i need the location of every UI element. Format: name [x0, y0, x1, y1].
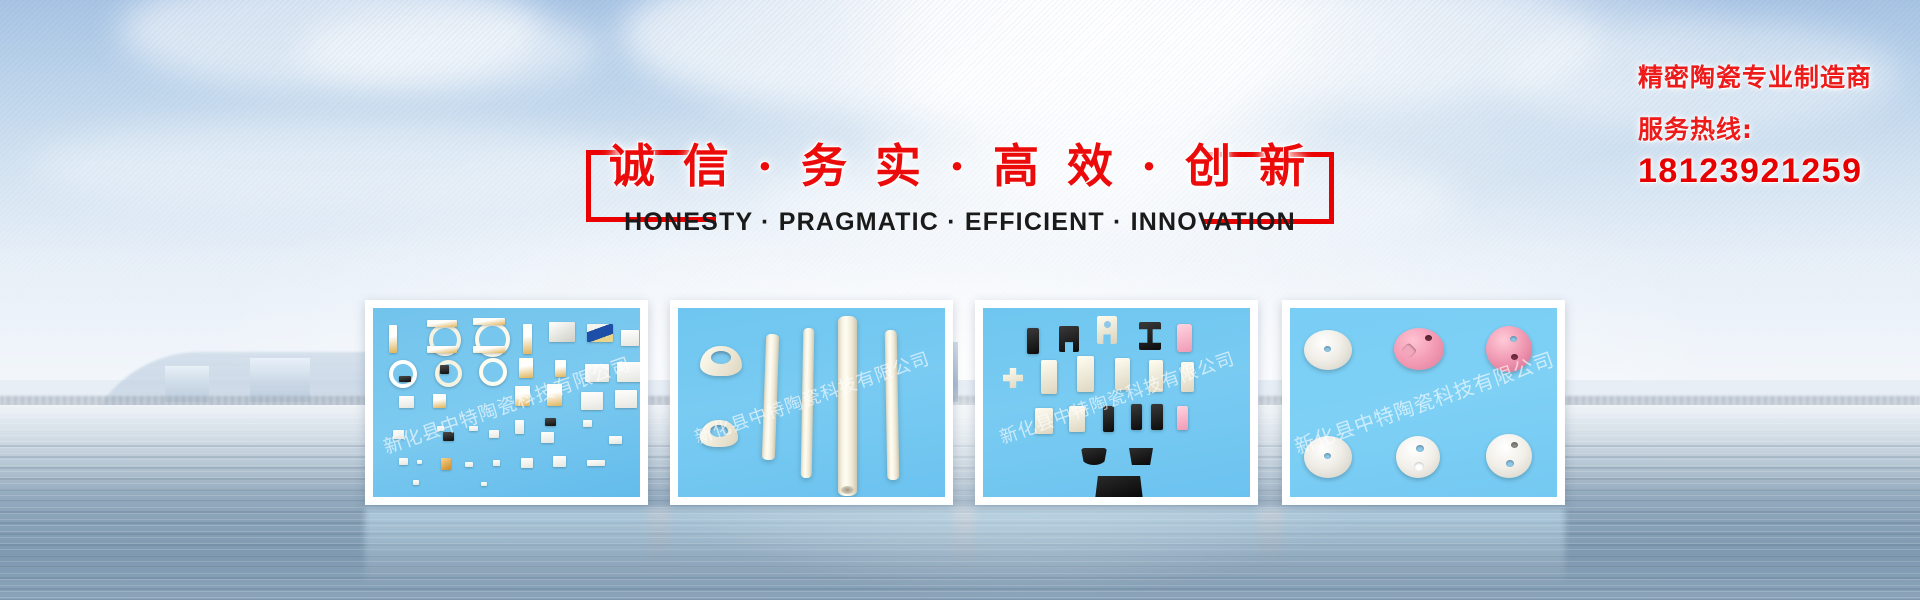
product-part [413, 480, 419, 485]
product-part [473, 318, 505, 325]
product-part [587, 460, 605, 466]
watermark: 新化县中特陶瓷科技有限公司 [983, 334, 1250, 459]
product-part [1081, 448, 1107, 465]
product-part [427, 346, 457, 353]
product-part [549, 322, 575, 342]
product-part [437, 426, 444, 431]
product-ring [700, 346, 742, 376]
product-part [1151, 404, 1163, 430]
product-part [417, 460, 422, 464]
product-part [399, 376, 411, 382]
product-part [1129, 448, 1153, 465]
product-part [493, 460, 500, 466]
hotline-label: 服务热线: [1638, 110, 1872, 146]
slogan-english: HONESTY · PRAGMATIC · EFFICIENT · INNOVA… [0, 208, 1920, 237]
product-part [1035, 408, 1053, 434]
product-valve-core [1396, 436, 1440, 478]
product-part [427, 320, 457, 327]
product-part [1077, 356, 1094, 392]
product-part [541, 432, 554, 443]
product-part [1177, 406, 1188, 430]
product-panel-2-image: 新化县中特陶瓷科技有限公司 [678, 308, 945, 497]
product-part [1041, 360, 1057, 394]
product-gallery: 新化县中特陶瓷科技有限公司 新化县中特陶瓷科技有限公司 [365, 300, 1565, 505]
product-part [519, 358, 533, 378]
product-part [1139, 322, 1161, 350]
product-part [615, 390, 637, 408]
product-part [1059, 326, 1079, 352]
product-tube [885, 330, 900, 480]
product-part [1003, 368, 1023, 388]
product-part [553, 456, 566, 467]
product-part [1177, 324, 1192, 352]
hotline-number[interactable]: 18123921259 [1638, 152, 1872, 191]
product-part [393, 430, 404, 439]
product-part [441, 458, 451, 470]
product-part [440, 365, 449, 374]
product-part [465, 462, 473, 467]
product-part [433, 394, 446, 408]
product-part [581, 392, 603, 410]
company-tagline: 精密陶瓷专业制造商 [1638, 58, 1872, 94]
panel-reflection-item [365, 508, 648, 572]
product-part [399, 458, 408, 465]
product-tube [838, 316, 857, 496]
product-valve-core [1486, 434, 1532, 478]
product-panel-1[interactable]: 新化县中特陶瓷科技有限公司 [365, 300, 648, 505]
product-part [1103, 406, 1114, 432]
product-tube [801, 328, 815, 478]
product-part [587, 324, 613, 342]
product-part [473, 346, 505, 353]
product-part [481, 482, 487, 486]
product-valve-core [1304, 436, 1352, 478]
product-panel-2[interactable]: 新化县中特陶瓷科技有限公司 [670, 300, 953, 505]
product-part [617, 362, 640, 382]
product-part [1131, 404, 1142, 430]
product-part [609, 436, 622, 444]
product-tube [762, 334, 779, 460]
product-valve-core [1394, 328, 1444, 370]
product-part [621, 330, 639, 346]
product-part [443, 432, 454, 441]
panel-reflection-item [975, 508, 1258, 572]
banner-stage: 诚 信 · 务 实 · 高 效 · 创 新 HONESTY · PRAGMATI… [0, 0, 1920, 600]
product-part [1069, 406, 1085, 432]
product-part [545, 418, 556, 426]
product-ring [700, 420, 738, 447]
product-valve-core [1486, 326, 1532, 372]
product-part [489, 430, 499, 438]
product-part [523, 324, 532, 354]
product-panel-3-image: 新化县中特陶瓷科技有限公司 [983, 308, 1250, 497]
product-valve-core [1304, 330, 1352, 370]
product-part [389, 360, 417, 388]
product-hole [1104, 321, 1111, 328]
product-part [479, 358, 507, 386]
product-part [1095, 476, 1143, 497]
product-part [521, 458, 533, 468]
contact-block: 精密陶瓷专业制造商 服务热线: 18123921259 [1638, 58, 1872, 191]
panel-reflection-item [1282, 508, 1565, 572]
product-part [515, 420, 524, 434]
product-panel-4[interactable]: 新化县中特陶瓷科技有限公司 [1282, 300, 1565, 505]
product-part [1149, 360, 1163, 392]
slogan-chinese: 诚 信 · 务 实 · 高 效 · 创 新 [0, 130, 1920, 196]
product-panel-4-image: 新化县中特陶瓷科技有限公司 [1290, 308, 1557, 497]
product-part [399, 396, 414, 408]
product-panel-3[interactable]: 新化县中特陶瓷科技有限公司 [975, 300, 1258, 505]
product-part [547, 384, 562, 406]
product-part [585, 364, 609, 382]
product-part [555, 360, 566, 377]
product-part [1115, 358, 1130, 390]
product-part [1027, 328, 1039, 354]
product-part [1181, 362, 1194, 392]
product-panel-1-image: 新化县中特陶瓷科技有限公司 [373, 308, 640, 497]
product-part [389, 325, 397, 353]
panel-reflection-item [670, 508, 953, 572]
panel-reflection [365, 508, 1565, 588]
product-part [469, 426, 478, 431]
product-part [515, 386, 530, 406]
product-part [583, 420, 592, 427]
